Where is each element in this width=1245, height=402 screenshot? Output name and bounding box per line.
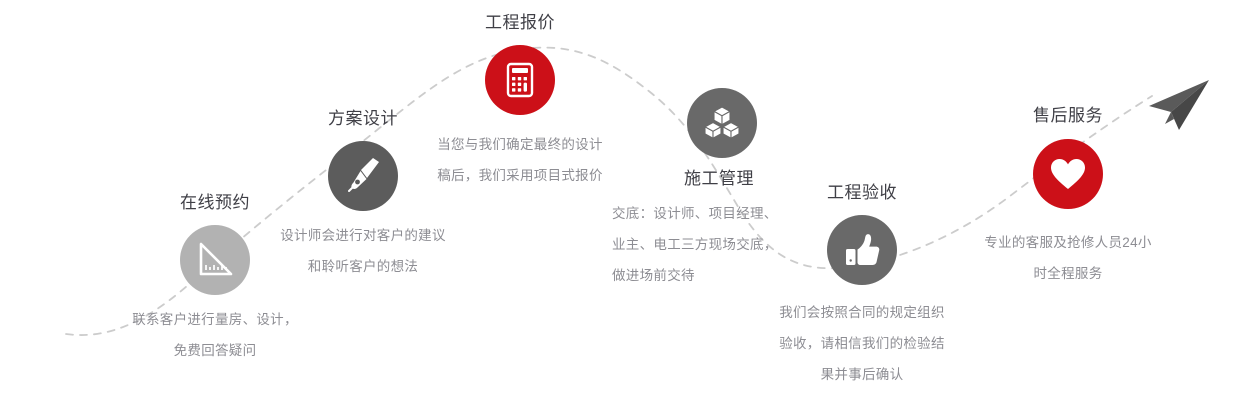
ruler-triangle-icon <box>195 240 235 280</box>
thumbs-up-icon <box>841 229 883 271</box>
step-2-icon-circle[interactable] <box>328 141 398 211</box>
step-5-title: 工程验收 <box>762 182 962 204</box>
step-1-icon-circle[interactable] <box>180 225 250 295</box>
flow-step-5[interactable]: 工程验收 我们会按照合同的规定组织验收，请相信我们的检验结果并事后确认 <box>762 182 962 390</box>
step-5-icon-circle[interactable] <box>827 215 897 285</box>
calculator-icon <box>500 60 540 100</box>
step-6-icon-circle[interactable] <box>1033 139 1103 209</box>
cubes-icon <box>702 103 742 143</box>
step-3-title: 工程报价 <box>420 12 620 34</box>
step-2-description: 设计师会进行对客户的建议和聆听客户的想法 <box>279 220 447 282</box>
step-4-description: 交底：设计师、项目经理、业主、电工三方现场交底，做进场前交待 <box>612 198 784 291</box>
step-3-icon-circle[interactable] <box>485 45 555 115</box>
step-5-description: 我们会按照合同的规定组织验收，请相信我们的检验结果并事后确认 <box>773 297 951 390</box>
heart-icon <box>1047 153 1089 195</box>
step-1-description: 联系客户进行量房、设计，免费回答疑问 <box>131 304 299 366</box>
service-flow-diagram: 在线预约 联系客户进行量房、设计，免费回答疑问 方案设计 <box>0 0 1245 402</box>
step-3-description: 当您与我们确定最终的设计稿后，我们采用项目式报价 <box>435 129 605 191</box>
pen-nib-icon <box>343 156 383 196</box>
step-6-description: 专业的客服及抢修人员24小时全程服务 <box>979 227 1157 289</box>
flow-step-3[interactable]: 工程报价 当您与我们确定最终的设计稿后，我们采用项目式报价 <box>420 12 620 191</box>
flow-step-6[interactable]: 售后服务 专业的客服及抢修人员24小时全程服务 <box>968 105 1168 289</box>
step-4-icon-circle[interactable] <box>687 88 757 158</box>
paper-plane-icon <box>1145 78 1213 136</box>
step-6-title: 售后服务 <box>968 105 1168 127</box>
